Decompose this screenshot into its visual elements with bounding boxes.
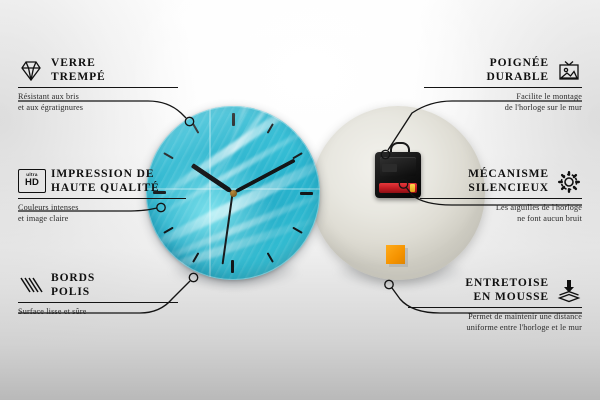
connector-dot-mecanisme (399, 180, 407, 188)
connector-dot-bords-polis (189, 273, 197, 281)
connector-dot-poignee (381, 150, 389, 158)
feature-header: POIGNÉE DURABLE (424, 57, 582, 84)
feature-subtitle-line1: Résistant aux bris (18, 92, 178, 103)
feature-entretoise-en-mousse[interactable]: ENTRETOISE EN MOUSSE Permet de maintenir… (408, 277, 582, 333)
divider (408, 307, 582, 308)
feature-title: BORDS POLIS (51, 272, 95, 299)
feature-header: BORDS POLIS (18, 272, 178, 299)
feature-subtitle-line1: Surface lisse et sûre (18, 307, 178, 318)
picture-hanger-icon (556, 58, 582, 84)
infographic-canvas: VERRE TREMPÉ Résistant aux bris et aux é… (0, 0, 600, 400)
diamond-icon (18, 58, 44, 84)
feature-subtitle-line2: uniforme entre l'horloge et le mur (408, 323, 582, 334)
feature-title: IMPRESSION DE HAUTE QUALITÉ (51, 168, 160, 195)
feature-title: MÉCANISME SILENCIEUX (468, 168, 549, 195)
connector-dot-entretoise (385, 280, 393, 288)
feature-impression-haute-qualite[interactable]: ultra HD IMPRESSION DE HAUTE QUALITÉ Cou… (18, 168, 186, 224)
feature-header: ENTRETOISE EN MOUSSE (408, 277, 582, 304)
feature-subtitle-line2: de l'horloge sur le mur (424, 103, 582, 114)
feature-header: VERRE TREMPÉ (18, 57, 178, 84)
gear-icon (556, 169, 582, 195)
feature-title: ENTRETOISE EN MOUSSE (465, 277, 549, 304)
ultra-hd-main-text: HD (25, 178, 39, 188)
foam-spacer-icon (556, 278, 582, 304)
divider (18, 198, 186, 199)
feature-subtitle-line1: Couleurs intenses (18, 203, 186, 214)
feature-subtitle-line2: et aux égratignures (18, 103, 178, 114)
feature-verre-trempe[interactable]: VERRE TREMPÉ Résistant aux bris et aux é… (18, 57, 178, 113)
feature-subtitle-line2: et image claire (18, 214, 186, 225)
ultra-hd-icon: ultra HD (18, 169, 44, 195)
polished-edges-icon (18, 273, 44, 299)
connector-dot-verre-trempe (185, 117, 193, 125)
divider (18, 87, 178, 88)
feature-mecanisme-silencieux[interactable]: MÉCANISME SILENCIEUX Les aiguilles de l'… (420, 168, 582, 224)
feature-title: VERRE TREMPÉ (51, 57, 106, 84)
feature-header: ultra HD IMPRESSION DE HAUTE QUALITÉ (18, 168, 186, 195)
feature-subtitle-line1: Permet de maintenir une distance (408, 312, 582, 323)
feature-subtitle-line1: Facilite le montage (424, 92, 582, 103)
divider (424, 87, 582, 88)
feature-poignee-durable[interactable]: POIGNÉE DURABLE Facilite le montage de l… (424, 57, 582, 113)
feature-header: MÉCANISME SILENCIEUX (420, 168, 582, 195)
divider (18, 302, 178, 303)
feature-bords-polis[interactable]: BORDS POLIS Surface lisse et sûre (18, 272, 178, 318)
feature-title: POIGNÉE DURABLE (486, 57, 549, 84)
feature-subtitle-line1: Les aiguilles de l'horloge (420, 203, 582, 214)
feature-subtitle-line2: ne font aucun bruit (420, 214, 582, 225)
divider (420, 198, 582, 199)
